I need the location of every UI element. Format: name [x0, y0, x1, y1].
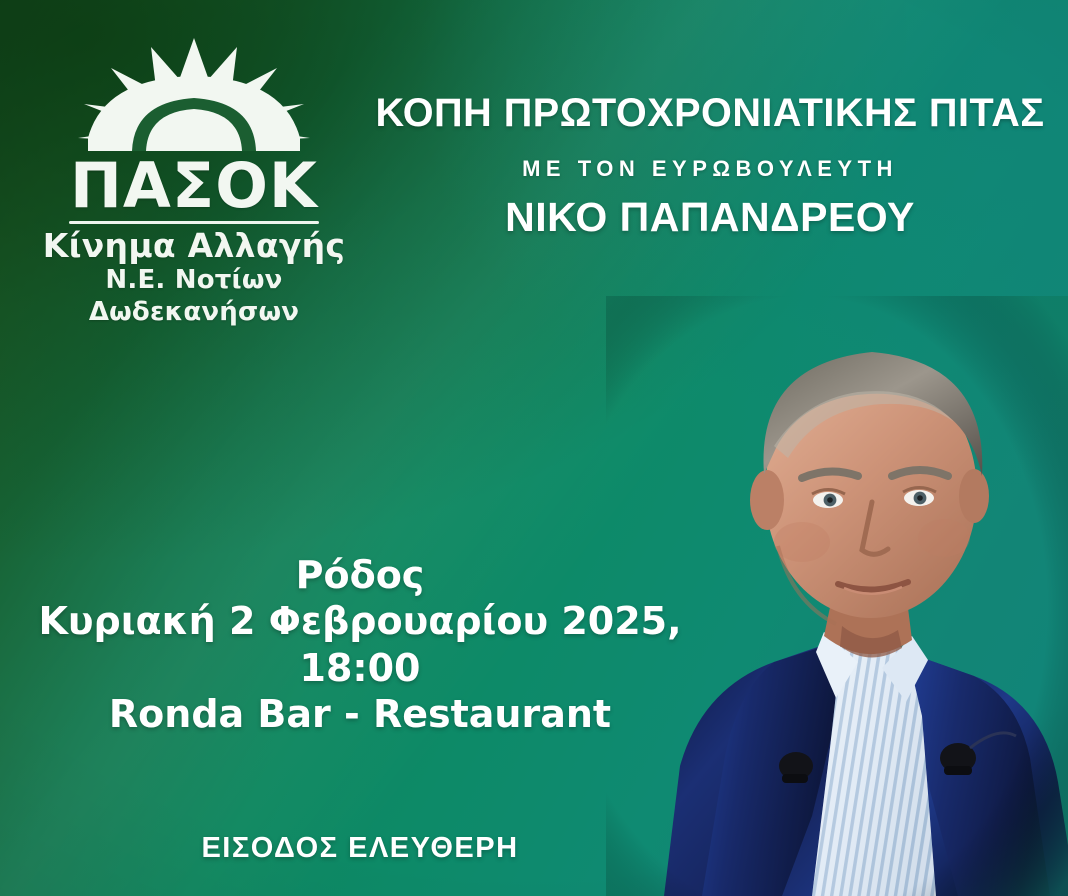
event-city: Ρόδος: [30, 552, 690, 598]
pasok-wordmark: ΠΑΣΟΚ: [14, 156, 374, 216]
speaker-role: ΜΕ ΤΟΝ ΕΥΡΩΒΟΥΛΕΥΤΗ: [360, 156, 1060, 182]
headline-block: ΚΟΠΗ ΠΡΩΤΟΧΡΟΝΙΑΤΙΚΗΣ ΠΙΤΑΣ ΜΕ ΤΟΝ ΕΥΡΩΒ…: [360, 92, 1060, 241]
event-time: 18:00: [30, 645, 690, 691]
event-poster: ΠΑΣΟΚ Κίνημα Αλλαγής Ν.Ε. Νοτίων Δωδεκαν…: [0, 0, 1068, 896]
event-title: ΚΟΠΗ ΠΡΩΤΟΧΡΟΝΙΑΤΙΚΗΣ ΠΙΤΑΣ: [364, 92, 1057, 134]
speaker-name: ΝΙΚΟ ΠΑΠΑΝΔΡΕΟΥ: [360, 194, 1060, 241]
event-venue: Ronda Bar - Restaurant: [30, 691, 690, 737]
pasok-chapter: Ν.Ε. Νοτίων Δωδεκανήσων: [14, 265, 374, 327]
event-details: Ρόδος Κυριακή 2 Φεβρουαρίου 2025, 18:00 …: [30, 552, 690, 737]
pasok-logo: ΠΑΣΟΚ Κίνημα Αλλαγής Ν.Ε. Νοτίων Δωδεκαν…: [14, 38, 374, 328]
event-date: Κυριακή 2 Φεβρουαρίου 2025,: [30, 598, 690, 644]
free-entry-note: ΕΙΣΟΔΟΣ ΕΛΕΥΘΕΡΗ: [30, 832, 690, 865]
pasok-rising-sun-icon: [78, 38, 310, 158]
pasok-tagline: Κίνημα Αλλαγής: [14, 228, 374, 265]
